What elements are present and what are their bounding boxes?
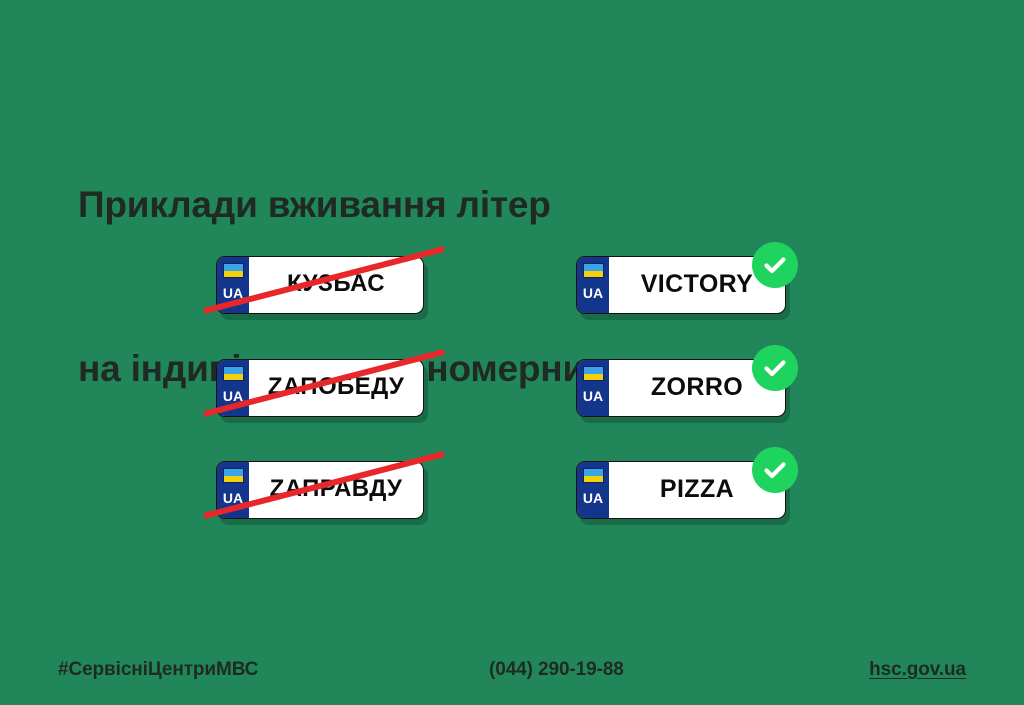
plate-examples-grid: UA КУЗБАС UA ZАПОБЕДУ	[0, 0, 1024, 705]
footer-website-link[interactable]: hsc.gov.ua	[869, 659, 966, 681]
plate-example-approved-1: UA VICTORY	[576, 256, 806, 330]
flag-stripe-yellow	[584, 476, 603, 483]
plate-number-text: ZАПОБЕДУ	[249, 360, 423, 416]
license-plate: UA КУЗБАС	[216, 256, 424, 314]
license-plate: UA ZАПРАВДУ	[216, 461, 424, 519]
license-plate: UA ZАПОБЕДУ	[216, 359, 424, 417]
flag-stripe-yellow	[224, 271, 243, 278]
country-code-label: UA	[223, 491, 243, 505]
ukraine-flag-icon	[223, 263, 244, 278]
plate-number-text: ZАПРАВДУ	[249, 462, 423, 518]
ukraine-flag-icon	[583, 366, 604, 381]
flag-stripe-yellow	[224, 476, 243, 483]
eu-band: UA	[577, 360, 609, 416]
eu-band: UA	[577, 462, 609, 518]
flag-stripe-yellow	[584, 374, 603, 381]
plate-number-text: КУЗБАС	[249, 257, 423, 313]
ukraine-flag-icon	[583, 468, 604, 483]
country-code-label: UA	[223, 286, 243, 300]
eu-band: UA	[217, 462, 249, 518]
country-code-label: UA	[223, 389, 243, 403]
country-code-label: UA	[583, 286, 603, 300]
footer-phone-number[interactable]: (044) 290-19-88	[489, 659, 624, 681]
eu-band: UA	[577, 257, 609, 313]
country-code-label: UA	[583, 389, 603, 403]
green-check-icon	[752, 242, 798, 288]
ukraine-flag-icon	[223, 468, 244, 483]
eu-band: UA	[217, 360, 249, 416]
plate-example-rejected-1: UA КУЗБАС	[216, 256, 446, 330]
footer-hashtag: #СервісніЦентриМВС	[58, 659, 258, 681]
flag-stripe-yellow	[584, 271, 603, 278]
plate-example-rejected-3: UA ZАПРАВДУ	[216, 461, 446, 535]
green-check-icon	[752, 447, 798, 493]
eu-band: UA	[217, 257, 249, 313]
footer: #СервісніЦентриМВС (044) 290-19-88 hsc.g…	[0, 633, 1024, 705]
plate-example-rejected-2: UA ZАПОБЕДУ	[216, 359, 446, 433]
ukraine-flag-icon	[223, 366, 244, 381]
plate-example-approved-2: UA ZORRO	[576, 359, 806, 433]
ukraine-flag-icon	[583, 263, 604, 278]
green-check-icon	[752, 345, 798, 391]
plate-example-approved-3: UA PIZZA	[576, 461, 806, 535]
country-code-label: UA	[583, 491, 603, 505]
flag-stripe-yellow	[224, 374, 243, 381]
